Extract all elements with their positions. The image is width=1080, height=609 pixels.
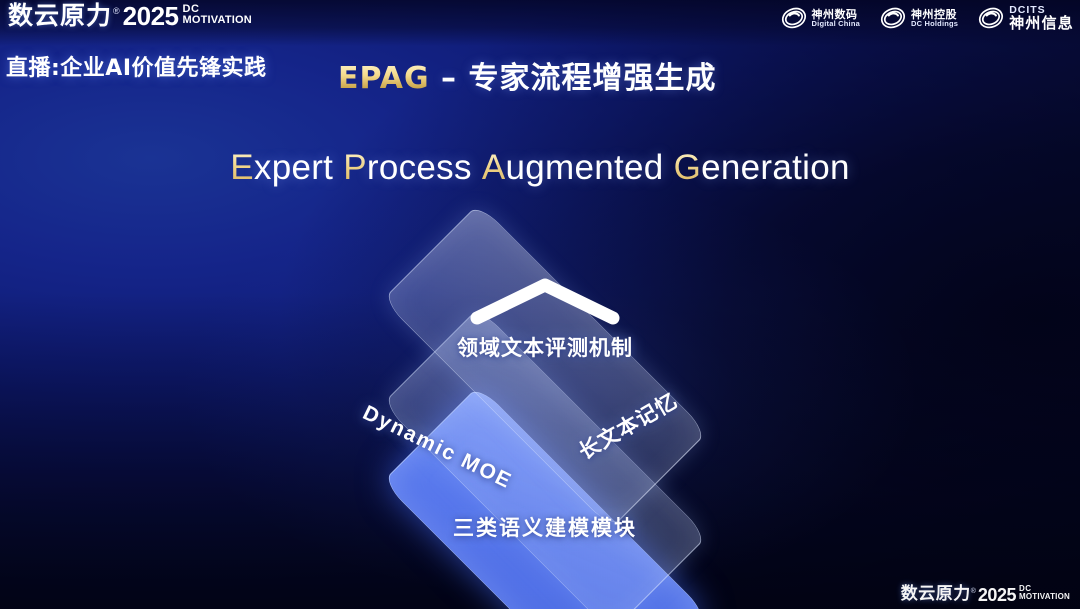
subtitle-expansion: Expert Process Augmented Generation bbox=[0, 148, 1080, 188]
title-divider bbox=[392, 124, 688, 129]
subtitle-cap-e: E bbox=[230, 148, 254, 187]
watermark-motivation-label: MOTIVATION bbox=[1019, 593, 1070, 601]
partner-logo-dc-holdings: 神州控股 DC Holdings bbox=[880, 7, 958, 29]
brand-year: 2025 bbox=[123, 3, 179, 29]
diagram-label-top: 领域文本评测机制 bbox=[457, 332, 633, 362]
partner-name-cn: 神州信息 bbox=[1009, 16, 1074, 32]
subtitle-space-3 bbox=[664, 148, 674, 187]
chevron-up-icon bbox=[467, 274, 623, 328]
subtitle-word-generation: Generation bbox=[674, 148, 850, 187]
registered-mark: ® bbox=[113, 6, 120, 16]
layered-architecture-diagram: 领域文本评测机制 Dynamic MOE 长文本记忆 三类语义建模模块 bbox=[290, 228, 800, 558]
subtitle-cap-g: G bbox=[674, 148, 702, 187]
title-separator: – bbox=[430, 61, 469, 96]
event-brand-logo: 数云原力 ® 2025 DC MOTIVATION bbox=[8, 2, 252, 28]
subtitle-cap-p: P bbox=[343, 148, 367, 187]
page-title: EPAG – 专家流程增强生成 bbox=[338, 53, 716, 97]
brand-dc-motivation: DC MOTIVATION bbox=[183, 4, 252, 26]
subtitle-rest-process: rocess bbox=[367, 148, 472, 187]
live-session-label: 直播:企业AI价值先锋实践 bbox=[6, 50, 267, 82]
partner-logo-dcits: DCITS 神州信息 bbox=[978, 5, 1074, 32]
brand-motivation-label: MOTIVATION bbox=[183, 15, 252, 26]
partner-logo-group: 神州数码 Digital China 神州控股 DC Holdings DCIT… bbox=[781, 5, 1074, 32]
subtitle-rest-augmented: ugmented bbox=[505, 148, 663, 187]
title-chinese: 专家流程增强生成 bbox=[468, 61, 716, 96]
watermark-name-cn: 数云原力 bbox=[901, 586, 971, 603]
partner-name-en: DC Holdings bbox=[911, 20, 958, 28]
swirl-icon bbox=[781, 7, 807, 29]
diagram-label-bottom: 三类语义建模模块 bbox=[453, 512, 637, 542]
partner-logo-digital-china: 神州数码 Digital China bbox=[781, 7, 860, 29]
subtitle-rest-expert: xpert bbox=[254, 148, 333, 187]
watermark-year: 2025 bbox=[978, 586, 1016, 604]
footer-brand-watermark: 数云原力 ® 2025 DC MOTIVATION bbox=[901, 585, 1070, 603]
partner-text-block: DCITS 神州信息 bbox=[1009, 5, 1074, 32]
subtitle-word-process: Process bbox=[343, 148, 472, 187]
subtitle-word-augmented: Augmented bbox=[482, 148, 664, 187]
partner-text-block: 神州控股 DC Holdings bbox=[911, 9, 958, 28]
partner-name-en: Digital China bbox=[812, 20, 860, 28]
swirl-icon bbox=[880, 7, 906, 29]
swirl-icon bbox=[978, 7, 1004, 29]
subtitle-cap-a: A bbox=[482, 148, 506, 187]
subtitle-word-expert: Expert bbox=[230, 148, 333, 187]
brand-name-cn: 数云原力 bbox=[8, 3, 112, 28]
subtitle-rest-generation: eneration bbox=[701, 148, 850, 187]
subtitle-space-1 bbox=[333, 148, 343, 187]
title-acronym: EPAG bbox=[338, 61, 430, 96]
slide-canvas: 数云原力 ® 2025 DC MOTIVATION 直播:企业AI价值先锋实践 … bbox=[0, 0, 1080, 609]
watermark-registered-mark: ® bbox=[971, 588, 976, 595]
partner-text-block: 神州数码 Digital China bbox=[812, 9, 860, 28]
subtitle-space-2 bbox=[472, 148, 482, 187]
watermark-dc-motivation: DC MOTIVATION bbox=[1019, 585, 1070, 601]
